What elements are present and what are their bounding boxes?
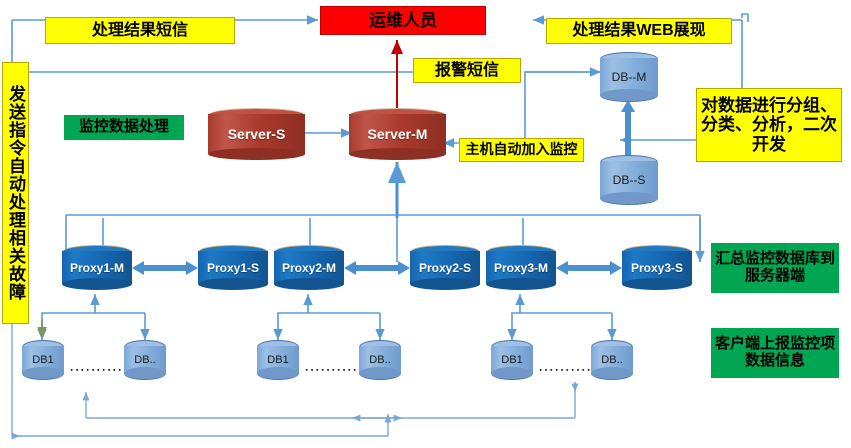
data-analysis-label: 对数据进行分组、分类、分析，二次开发 <box>701 96 837 153</box>
g1-db1-label: DB1 <box>22 340 64 380</box>
result-sms-box: 处理结果短信 <box>45 17 235 44</box>
g3-ellipsis: ∙∙∙∙∙∙∙∙∙∙ <box>539 363 592 377</box>
server-s-node[interactable]: Server-S <box>208 108 305 160</box>
g1-dbn-node[interactable]: DB.. <box>124 340 166 380</box>
client-report-label: 客户端上报监控项数据信息 <box>715 336 835 370</box>
architecture-diagram: 运维人员 处理结果短信 处理结果WEB展现 报警短信 发送指令自动处理相关故障 … <box>0 0 851 448</box>
proxy1-m-node[interactable]: Proxy1-M <box>62 245 132 290</box>
g1-dbn-label: DB.. <box>124 340 166 380</box>
g1-ellipsis: ∙∙∙∙∙∙∙∙∙∙ <box>70 363 123 377</box>
g3-dbn-label: DB.. <box>591 340 633 380</box>
db-s-node[interactable]: DB--S <box>600 155 658 205</box>
proxy1-s-label: Proxy1-S <box>198 245 268 290</box>
aggregate-db-box: 汇总监控数据库到服务器端 <box>711 243 839 293</box>
g3-db1-label: DB1 <box>491 340 533 380</box>
proxy2-m-label: Proxy2-M <box>274 245 344 290</box>
g3-dbn-node[interactable]: DB.. <box>591 340 633 380</box>
result-sms-label: 处理结果短信 <box>92 22 188 40</box>
result-web-box: 处理结果WEB展现 <box>546 18 732 44</box>
server-s-label: Server-S <box>208 108 305 160</box>
proxy2-s-label: Proxy2-S <box>410 245 480 290</box>
monitor-data-process-box: 监控数据处理 <box>64 115 184 140</box>
proxy2-s-node[interactable]: Proxy2-S <box>410 245 480 290</box>
client-report-box: 客户端上报监控项数据信息 <box>711 328 839 378</box>
alarm-sms-box: 报警短信 <box>413 58 521 83</box>
g2-db1-label: DB1 <box>257 340 299 380</box>
data-analysis-box: 对数据进行分组、分类、分析，二次开发 <box>696 88 842 162</box>
ops-staff-box[interactable]: 运维人员 <box>320 6 486 35</box>
proxy3-s-label: Proxy3-S <box>622 245 692 290</box>
send-command-vertical-box: 发送指令自动处理相关故障 <box>2 62 29 324</box>
proxy1-s-node[interactable]: Proxy1-S <box>198 245 268 290</box>
proxy1-m-label: Proxy1-M <box>62 245 132 290</box>
proxy3-m-node[interactable]: Proxy3-M <box>486 245 556 290</box>
g2-db1-node[interactable]: DB1 <box>257 340 299 380</box>
g3-db1-node[interactable]: DB1 <box>491 340 533 380</box>
server-m-node[interactable]: Server-M <box>349 108 446 160</box>
db-m-label: DB--M <box>600 52 658 102</box>
db-s-label: DB--S <box>600 155 658 205</box>
host-auto-join-label: 主机自动加入监控 <box>466 142 578 158</box>
server-m-label: Server-M <box>349 108 446 160</box>
proxy3-m-label: Proxy3-M <box>486 245 556 290</box>
g2-ellipsis: ∙∙∙∙∙∙∙∙∙∙ <box>305 363 358 377</box>
result-web-label: 处理结果WEB展现 <box>572 22 705 40</box>
monitor-data-process-label: 监控数据处理 <box>79 119 169 136</box>
aggregate-db-label: 汇总监控数据库到服务器端 <box>715 251 835 285</box>
alarm-sms-label: 报警短信 <box>435 62 499 80</box>
g1-db1-node[interactable]: DB1 <box>22 340 64 380</box>
host-auto-join-box: 主机自动加入监控 <box>459 138 584 162</box>
db-m-node[interactable]: DB--M <box>600 52 658 102</box>
g2-dbn-node[interactable]: DB.. <box>359 340 401 380</box>
ops-staff-label: 运维人员 <box>369 11 437 30</box>
send-command-label: 发送指令自动处理相关故障 <box>7 85 24 301</box>
g2-dbn-label: DB.. <box>359 340 401 380</box>
proxy3-s-node[interactable]: Proxy3-S <box>622 245 692 290</box>
proxy2-m-node[interactable]: Proxy2-M <box>274 245 344 290</box>
